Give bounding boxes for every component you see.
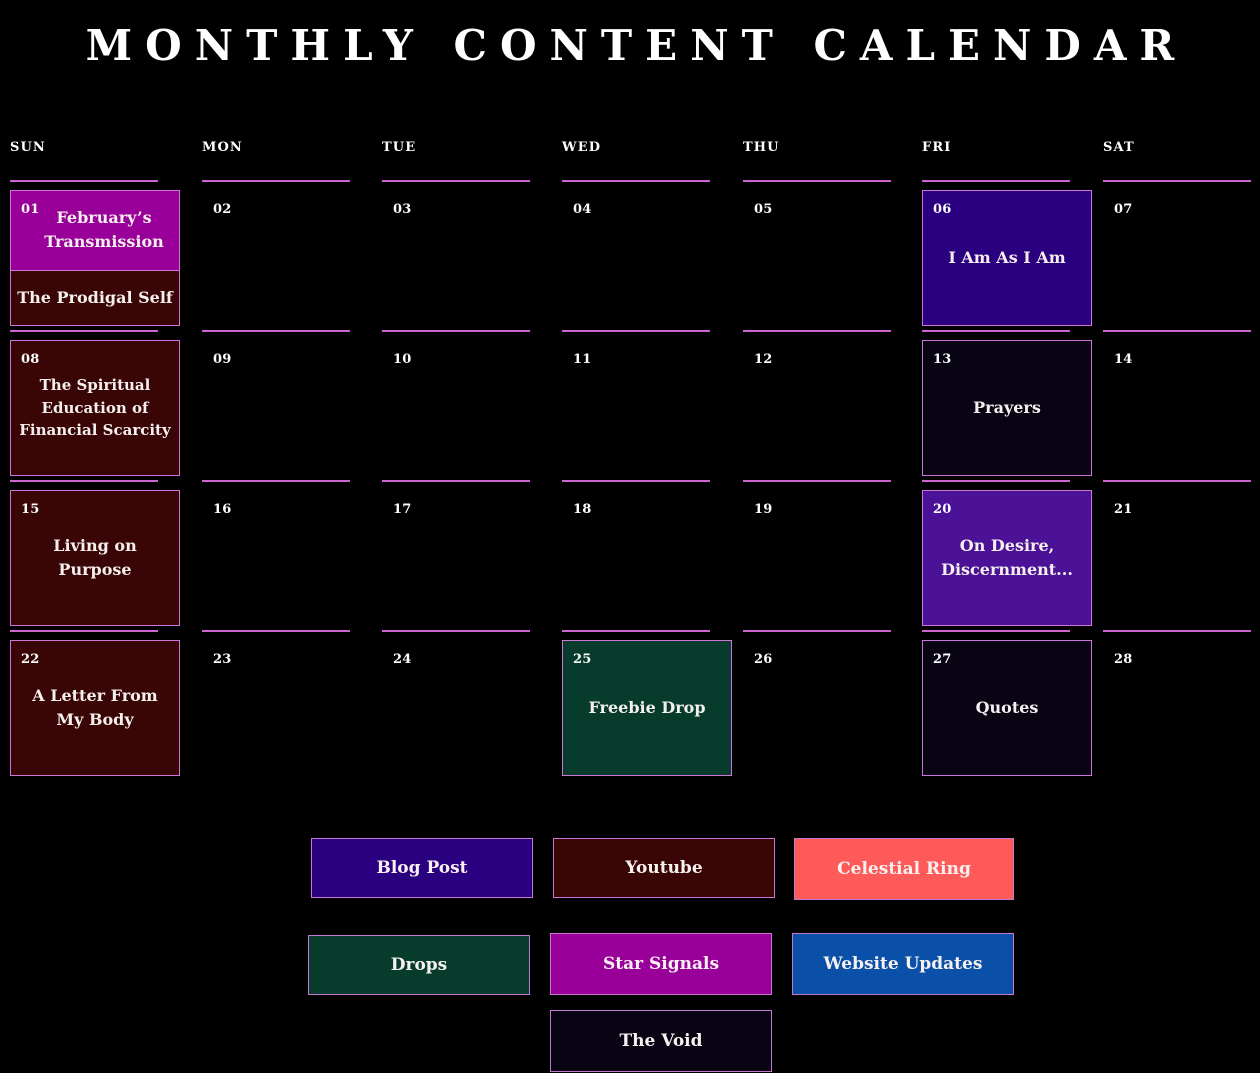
- day-cell-rule: [10, 330, 158, 332]
- legend-item-label: The Void: [619, 1031, 702, 1051]
- calendar-week-row: A Letter From My Body222324Freebie Drop2…: [0, 630, 1260, 782]
- legend-item-label: Celestial Ring: [837, 859, 971, 879]
- day-number-24: 24: [393, 652, 412, 667]
- legend-item-label: Blog Post: [376, 858, 467, 878]
- day-cell-10[interactable]: 10: [382, 330, 552, 472]
- day-number-09: 09: [213, 352, 232, 367]
- weekday-header-mon: MON: [202, 140, 243, 155]
- day-cell-rule: [202, 630, 350, 632]
- day-cell-07[interactable]: 07: [1103, 180, 1260, 322]
- day-cell-rule: [1103, 630, 1251, 632]
- day-cell-27[interactable]: Quotes27: [922, 630, 1092, 772]
- day-number-05: 05: [754, 202, 773, 217]
- day-number-15: 15: [21, 502, 40, 517]
- weekday-header-tue: TUE: [382, 140, 416, 155]
- weekday-header-sun: SUN: [10, 140, 46, 155]
- day-number-17: 17: [393, 502, 412, 517]
- calendar-week-row: Living on Purpose1516171819On Desire, Di…: [0, 480, 1260, 630]
- day-number-27: 27: [933, 652, 952, 667]
- event-title: February’s Transmission: [17, 206, 173, 254]
- day-number-04: 04: [573, 202, 592, 217]
- event-title: Freebie Drop: [588, 696, 705, 720]
- day-cell-13[interactable]: Prayers13: [922, 330, 1092, 472]
- day-number-23: 23: [213, 652, 232, 667]
- day-number-16: 16: [213, 502, 232, 517]
- day-number-08: 08: [21, 352, 40, 367]
- day-cell-rule: [562, 180, 710, 182]
- day-cell-rule: [1103, 180, 1251, 182]
- day-number-03: 03: [393, 202, 412, 217]
- weekday-header-sat: SAT: [1103, 140, 1135, 155]
- day-cell-04[interactable]: 04: [562, 180, 732, 322]
- day-cell-rule: [743, 180, 891, 182]
- day-cell-rule: [202, 330, 350, 332]
- day-cell-21[interactable]: 21: [1103, 480, 1260, 622]
- event-title: The Prodigal Self: [17, 286, 173, 310]
- day-cell-14[interactable]: 14: [1103, 330, 1260, 472]
- event-title: Quotes: [976, 696, 1039, 720]
- weekday-header-row: SUNMONTUEWEDTHUFRISAT: [0, 140, 1260, 180]
- day-cell-26[interactable]: 26: [743, 630, 913, 772]
- day-cell-rule: [10, 630, 158, 632]
- day-cell-rule: [562, 330, 710, 332]
- day-number-02: 02: [213, 202, 232, 217]
- day-cell-rule: [382, 180, 530, 182]
- event-block-youtube[interactable]: The Prodigal Self: [11, 271, 179, 326]
- day-number-19: 19: [754, 502, 773, 517]
- legend-item-website-updates[interactable]: Website Updates: [792, 933, 1014, 995]
- day-cell-rule: [743, 630, 891, 632]
- legend-item-label: Website Updates: [824, 954, 983, 974]
- event-title: The Spiritual Education of Financial Sca…: [17, 374, 173, 442]
- day-cell-06[interactable]: I Am As I Am06: [922, 180, 1092, 322]
- legend-item-the-void[interactable]: The Void: [550, 1010, 772, 1072]
- day-cell-rule: [1103, 330, 1251, 332]
- legend-item-blog-post[interactable]: Blog Post: [311, 838, 533, 898]
- day-number-21: 21: [1114, 502, 1133, 517]
- category-legend: Blog PostYoutubeCelestial RingDropsStar …: [0, 828, 1260, 1073]
- day-cell-20[interactable]: On Desire, Discernment...20: [922, 480, 1092, 622]
- day-number-06: 06: [933, 202, 952, 217]
- day-cell-16[interactable]: 16: [202, 480, 372, 622]
- weekday-header-thu: THU: [743, 140, 780, 155]
- calendar-grid: SUNMONTUEWEDTHUFRISAT February’s Transmi…: [0, 140, 1260, 782]
- calendar-weeks: February’s TransmissionThe Prodigal Self…: [0, 180, 1260, 782]
- day-cell-rule: [10, 180, 158, 182]
- day-cell-rule: [743, 330, 891, 332]
- day-cell-rule: [922, 480, 1070, 482]
- day-cell-rule: [382, 630, 530, 632]
- day-cell-rule: [382, 480, 530, 482]
- page-title: MONTHLY CONTENT CALENDAR: [0, 16, 1260, 76]
- day-number-20: 20: [933, 502, 952, 517]
- legend-item-label: Drops: [391, 955, 448, 975]
- day-cell-05[interactable]: 05: [743, 180, 913, 322]
- event-title: On Desire, Discernment...: [929, 534, 1085, 582]
- day-cell-17[interactable]: 17: [382, 480, 552, 622]
- day-cell-03[interactable]: 03: [382, 180, 552, 322]
- legend-item-star-signals[interactable]: Star Signals: [550, 933, 772, 995]
- day-number-11: 11: [573, 352, 592, 367]
- day-cell-rule: [382, 330, 530, 332]
- day-number-18: 18: [573, 502, 592, 517]
- day-cell-02[interactable]: 02: [202, 180, 372, 322]
- day-cell-rule: [202, 180, 350, 182]
- legend-item-drops[interactable]: Drops: [308, 935, 530, 995]
- event-title: Living on Purpose: [17, 534, 173, 582]
- day-cell-rule: [922, 330, 1070, 332]
- day-cell-08[interactable]: The Spiritual Education of Financial Sca…: [10, 330, 180, 472]
- day-number-10: 10: [393, 352, 412, 367]
- day-cell-rule: [922, 180, 1070, 182]
- day-cell-23[interactable]: 23: [202, 630, 372, 772]
- calendar-week-row: The Spiritual Education of Financial Sca…: [0, 330, 1260, 480]
- day-cell-25[interactable]: Freebie Drop25: [562, 630, 732, 772]
- event-title: A Letter From My Body: [17, 684, 173, 732]
- day-cell-rule: [743, 480, 891, 482]
- day-cell-rule: [202, 480, 350, 482]
- day-number-13: 13: [933, 352, 952, 367]
- day-cell-rule: [10, 480, 158, 482]
- day-cell-18[interactable]: 18: [562, 480, 732, 622]
- day-cell-rule: [1103, 480, 1251, 482]
- legend-item-label: Youtube: [625, 858, 702, 878]
- day-number-01: 01: [21, 202, 40, 217]
- weekday-header-wed: WED: [562, 140, 601, 155]
- day-number-12: 12: [754, 352, 773, 367]
- day-cell-19[interactable]: 19: [743, 480, 913, 622]
- legend-item-label: Star Signals: [603, 954, 719, 974]
- day-number-22: 22: [21, 652, 40, 667]
- legend-item-celestial-ring[interactable]: Celestial Ring: [794, 838, 1014, 900]
- day-number-07: 07: [1114, 202, 1133, 217]
- weekday-header-fri: FRI: [922, 140, 951, 155]
- day-cell-rule: [562, 630, 710, 632]
- day-number-26: 26: [754, 652, 773, 667]
- day-cell-rule: [922, 630, 1070, 632]
- day-number-14: 14: [1114, 352, 1133, 367]
- calendar-week-row: February’s TransmissionThe Prodigal Self…: [0, 180, 1260, 330]
- day-cell-22[interactable]: A Letter From My Body22: [10, 630, 180, 772]
- day-cell-24[interactable]: 24: [382, 630, 552, 772]
- day-number-28: 28: [1114, 652, 1133, 667]
- day-cell-15[interactable]: Living on Purpose15: [10, 480, 180, 622]
- event-title: Prayers: [973, 396, 1041, 420]
- day-cell-12[interactable]: 12: [743, 330, 913, 472]
- day-cell-11[interactable]: 11: [562, 330, 732, 472]
- day-number-25: 25: [573, 652, 592, 667]
- day-cell-28[interactable]: 28: [1103, 630, 1260, 772]
- event-title: I Am As I Am: [948, 246, 1065, 270]
- day-cell-01[interactable]: February’s TransmissionThe Prodigal Self…: [10, 180, 180, 322]
- legend-item-youtube[interactable]: Youtube: [553, 838, 775, 898]
- day-cell-rule: [562, 480, 710, 482]
- day-cell-09[interactable]: 09: [202, 330, 372, 472]
